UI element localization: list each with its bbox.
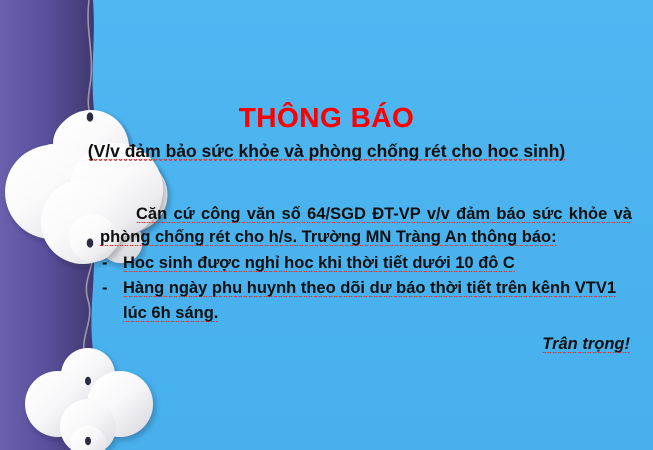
list-item: - Hàng ngày phu huynh theo dõi dư báo th… — [100, 276, 632, 326]
page-subtitle: (V/v đảm bảo sức khỏe và phòng chống rét… — [0, 141, 653, 162]
announcement-bullet-list: - Hoc sinh được nghỉ hoc khi thời tiết d… — [100, 251, 632, 326]
bullet-dash-icon: - — [102, 276, 108, 301]
page-title: THÔNG BÁO — [0, 102, 653, 134]
closing-salutation-text: Trân trọng! — [542, 335, 630, 353]
body-paragraph-text: Căn cứ công văn số 64/SGD ĐT-VP v/v đảm … — [100, 205, 632, 246]
bullet-dash-icon: - — [102, 251, 108, 276]
subtitle-text: (V/v đảm bảo sức khỏe và phòng chống rét… — [88, 141, 565, 161]
list-item: - Hoc sinh được nghỉ hoc khi thời tiết d… — [100, 251, 632, 276]
closing-salutation: Trân trọng! — [100, 335, 632, 354]
list-item-text: Hàng ngày phu huynh theo dõi dư báo thời… — [123, 279, 616, 322]
announcement-slide: THÔNG BÁO (V/v đảm bảo sức khỏe và phòng… — [0, 0, 653, 450]
body-paragraph: Căn cứ công văn số 64/SGD ĐT-VP v/v đảm … — [100, 203, 632, 249]
list-item-text: Hoc sinh được nghỉ hoc khi thời tiết dướ… — [123, 254, 515, 272]
slide-content: THÔNG BÁO (V/v đảm bảo sức khỏe và phòng… — [0, 0, 653, 450]
announcement-body: Căn cứ công văn số 64/SGD ĐT-VP v/v đảm … — [100, 203, 632, 354]
